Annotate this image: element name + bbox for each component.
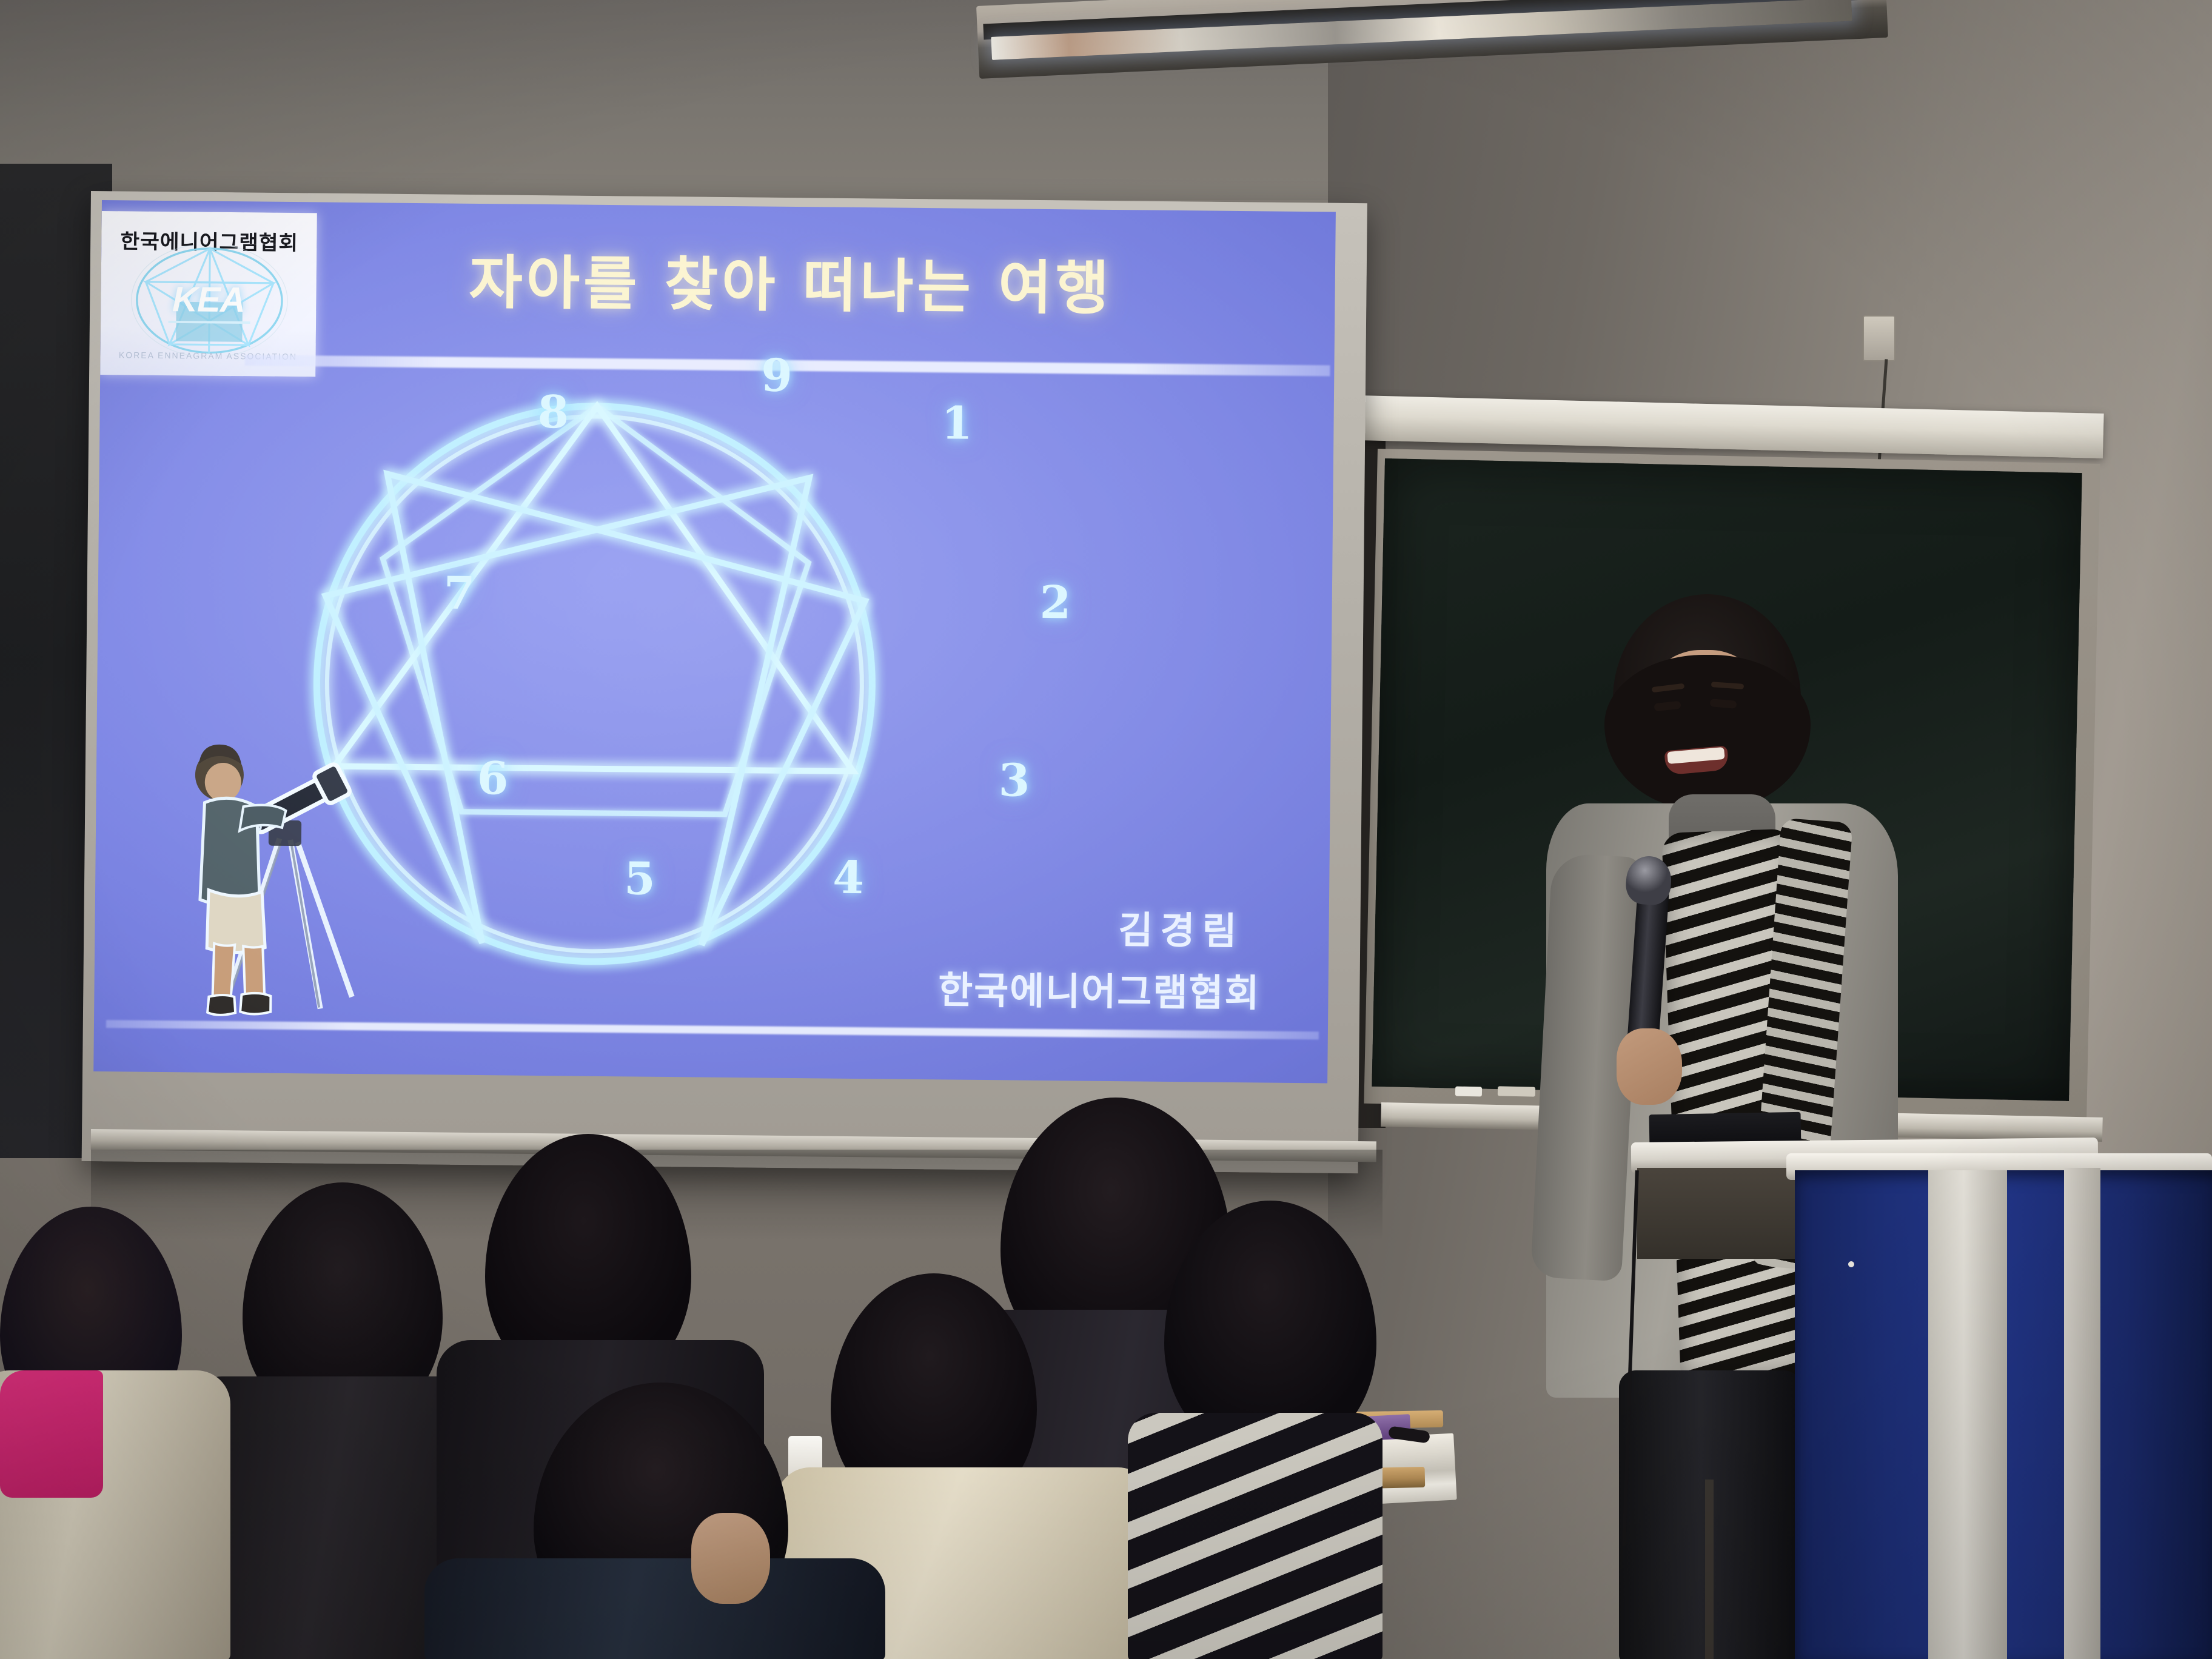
presenter-leg-gap	[1705, 1480, 1714, 1659]
enneagram-label-8: 8	[537, 386, 569, 438]
enneagram-label-1: 1	[941, 397, 973, 449]
enneagram-label-4: 4	[833, 852, 864, 904]
enneagram-label-5: 5	[624, 853, 655, 905]
slide-presenter-name: 김경림	[1118, 899, 1244, 955]
podium-highlight	[1848, 1261, 1854, 1267]
audience-scarf	[0, 1370, 103, 1498]
presenter-hand	[1617, 1028, 1682, 1105]
enneagram-label-9: 9	[761, 349, 793, 401]
podium-white-stripe	[1928, 1170, 2007, 1659]
chalk-piece	[1455, 1087, 1482, 1097]
boy-with-telescope-image	[176, 734, 379, 1027]
enneagram-label-3: 3	[998, 754, 1030, 806]
lecture-room-photo: 한국에니어그램협회 KEA KOREA ENNEAGRAM ASSOCIATIO…	[0, 0, 2212, 1659]
audience-body	[424, 1558, 885, 1659]
wall-outlet	[1863, 315, 1895, 361]
audience-body-striped	[1128, 1413, 1382, 1659]
enneagram-label-6: 6	[477, 752, 508, 805]
footer-divider	[106, 1020, 1319, 1039]
presenter-hair-front	[1604, 655, 1811, 809]
audience-hand	[691, 1513, 770, 1604]
logo-monogram: KEA	[118, 278, 300, 321]
enneagram-label-7: 7	[443, 567, 475, 619]
enneagram-label-2: 2	[1039, 577, 1071, 629]
slide-presenter-org: 한국에니어그램협회	[938, 959, 1261, 1017]
podium-side-panel	[2064, 1168, 2100, 1659]
projected-slide: 한국에니어그램협회 KEA KOREA ENNEAGRAM ASSOCIATIO…	[93, 200, 1336, 1083]
